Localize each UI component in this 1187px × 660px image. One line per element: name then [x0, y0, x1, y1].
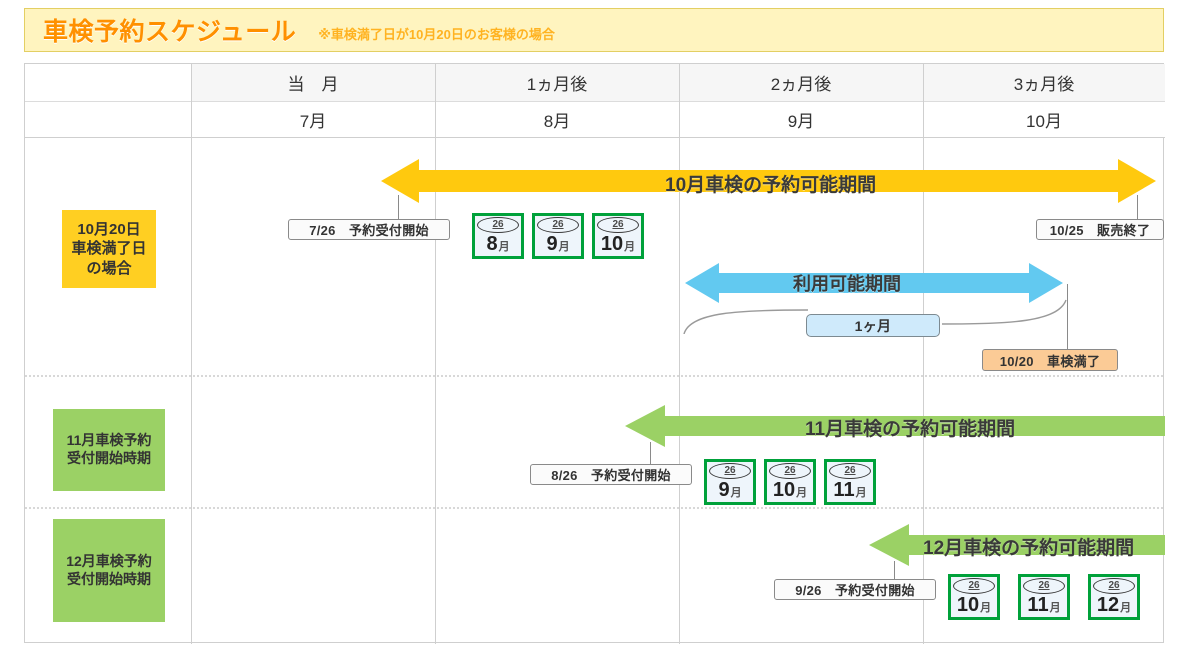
badge-month: 9月: [718, 479, 741, 502]
header-corner-cell: [25, 64, 191, 102]
header-corner-cell-2: [25, 102, 191, 138]
row-label-nov-line-1: 受付開始時期: [67, 450, 151, 468]
callout-dec-reservation-start: 9/26 予約受付開始: [774, 579, 936, 600]
callout-oct-inspection-expiry: 10/20 車検満了: [982, 349, 1118, 371]
row-divider-2: [25, 507, 1163, 509]
callout-nov-reservation-start: 8/26 予約受付開始: [530, 464, 692, 485]
badge-day-cap: 26: [953, 578, 995, 594]
row-divider-1: [25, 375, 1163, 377]
badge-month: 11月: [1027, 594, 1060, 617]
header-calendar-month-1: 8月: [435, 102, 679, 138]
callout-oct-reservation-start: 7/26 予約受付開始: [288, 219, 450, 240]
badge-month: 10月: [957, 594, 991, 617]
badge-nov-1: 26 10月: [764, 459, 816, 505]
row-label-oct-line-2: の場合: [86, 259, 131, 278]
header-calendar-month-3: 10月: [923, 102, 1165, 138]
column-separator-2: [679, 64, 680, 644]
badge-day-cap: 26: [477, 217, 519, 233]
badge-oct-2: 26 10月: [592, 213, 644, 259]
badge-nov-0: 26 9月: [704, 459, 756, 505]
callout-oct-sales-end: 10/25 販売終了: [1036, 219, 1164, 240]
badge-month: 9月: [546, 233, 569, 256]
row-label-dec-line-0: 12月車検予約: [66, 553, 152, 571]
badge-day-cap: 26: [829, 463, 871, 479]
badge-month: 10月: [601, 233, 635, 256]
page-title: 車検予約スケジュール: [43, 12, 296, 48]
badge-dec-1: 26 11月: [1018, 574, 1070, 620]
table-header-relative-months: 当 月 1ヵ月後 2ヵ月後 3ヵ月後: [25, 64, 1163, 102]
row-label-dec-start: 12月車検予約 受付開始時期: [53, 519, 165, 622]
schedule-table: 当 月 1ヵ月後 2ヵ月後 3ヵ月後 7月 8月 9月 10月 10月20日 車…: [24, 63, 1164, 643]
row-label-oct-expiry: 10月20日 車検満了日 の場合: [62, 210, 156, 288]
badge-day-cap: 26: [597, 217, 639, 233]
leader-line-oct-start: [398, 195, 399, 221]
leader-line-oct-sales-end: [1137, 195, 1138, 221]
row-label-oct-line-0: 10月20日: [77, 220, 140, 239]
badge-oct-0: 26 8月: [472, 213, 524, 259]
badge-dec-0: 26 10月: [948, 574, 1000, 620]
badge-nov-2: 26 11月: [824, 459, 876, 505]
title-bar: 車検予約スケジュール ※車検満了日が10月20日のお客様の場合: [24, 8, 1164, 52]
badge-month: 8月: [486, 233, 509, 256]
badge-month: 11月: [833, 479, 866, 502]
badge-day-cap: 26: [1023, 578, 1065, 594]
leader-line-oct-expiry: [1067, 284, 1068, 351]
page-subtitle: ※車検満了日が10月20日のお客様の場合: [318, 24, 555, 43]
arrow-label-usable-period: 利用可能期間: [793, 270, 901, 296]
header-relative-month-2: 2ヵ月後: [679, 64, 923, 102]
badge-dec-2: 26 12月: [1088, 574, 1140, 620]
arrow-label-oct-booking-window: 10月車検の予約可能期間: [665, 170, 876, 197]
row-label-dec-line-1: 受付開始時期: [67, 571, 151, 589]
badge-day-cap: 26: [1093, 578, 1135, 594]
badge-month: 12月: [1097, 594, 1131, 617]
arrow-label-dec-booking-window: 12月車検の予約可能期間: [923, 533, 1134, 560]
header-relative-month-3: 3ヵ月後: [923, 64, 1165, 102]
column-separator-0: [191, 64, 192, 644]
header-relative-month-0: 当 月: [191, 64, 435, 102]
leader-line-nov-start: [650, 442, 651, 466]
badge-month: 10月: [773, 479, 807, 502]
badge-day-cap: 26: [537, 217, 579, 233]
schedule-diagram: 車検予約スケジュール ※車検満了日が10月20日のお客様の場合 当 月 1ヵ月後…: [0, 0, 1187, 660]
badge-day-cap: 26: [709, 463, 751, 479]
row-label-oct-line-1: 車検満了日: [71, 239, 146, 258]
column-separator-1: [435, 64, 436, 644]
row-label-nov-line-0: 11月車検予約: [67, 432, 152, 450]
header-relative-month-1: 1ヵ月後: [435, 64, 679, 102]
arrow-label-nov-booking-window: 11月車検の予約可能期間: [805, 414, 1015, 441]
badge-oct-1: 26 9月: [532, 213, 584, 259]
header-calendar-month-2: 9月: [679, 102, 923, 138]
header-calendar-month-0: 7月: [191, 102, 435, 138]
badge-day-cap: 26: [769, 463, 811, 479]
callout-one-month: 1ヶ月: [806, 314, 940, 337]
row-label-nov-start: 11月車検予約 受付開始時期: [53, 409, 165, 491]
table-header-calendar-months: 7月 8月 9月 10月: [25, 102, 1163, 138]
